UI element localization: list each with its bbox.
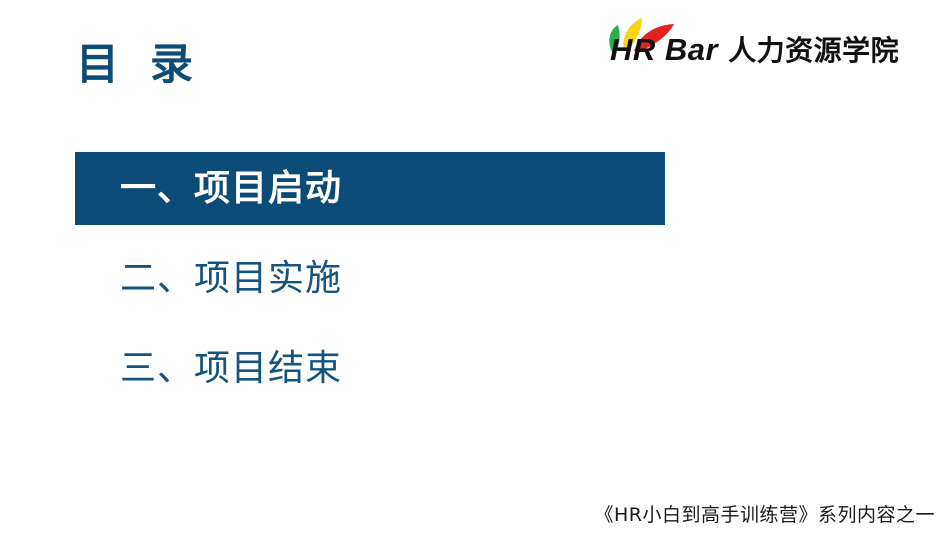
- toc-item-1-label: 一、项目启动: [120, 171, 342, 207]
- logo-chinese-text: 人力资源学院: [728, 37, 899, 65]
- logo-wordmark: HR Bar 人力资源学院: [610, 34, 899, 65]
- toc-item-1[interactable]: 一、项目启动: [75, 152, 665, 225]
- presentation-slide: HR Bar 人力资源学院 目 录 一、项目启动 二、项目实施 三、项目结束 《…: [0, 0, 950, 535]
- toc-item-3[interactable]: 三、项目结束: [75, 332, 665, 405]
- toc-spacer: [0, 315, 950, 332]
- hr-bar-logo: HR Bar 人力资源学院: [604, 14, 944, 72]
- toc-spacer: [0, 225, 950, 242]
- slide-footer: 《HR小白到高手训练营》系列内容之一: [595, 500, 936, 527]
- page-title: 目 录: [76, 41, 201, 90]
- toc-item-2-label: 二、项目实施: [120, 261, 342, 297]
- logo-latin-text: HR Bar: [610, 34, 718, 65]
- toc-item-3-label: 三、项目结束: [120, 351, 342, 387]
- table-of-contents: 一、项目启动 二、项目实施 三、项目结束: [0, 152, 950, 405]
- toc-item-2[interactable]: 二、项目实施: [75, 242, 665, 315]
